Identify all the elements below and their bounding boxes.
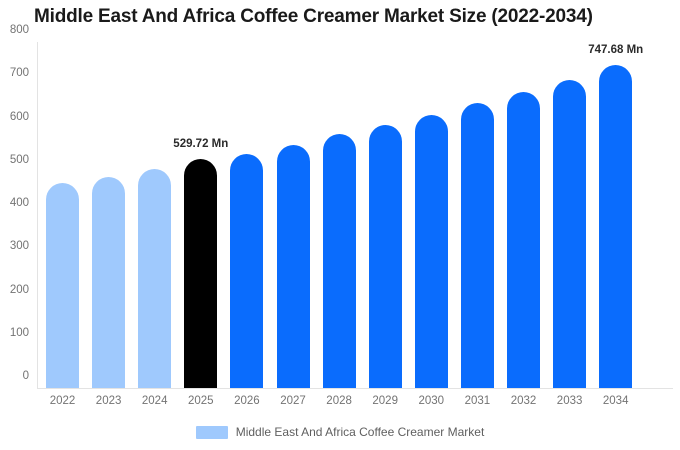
y-axis-tick-label: 400 (10, 197, 29, 209)
bar-2030[interactable] (415, 115, 448, 388)
bar-slot (230, 42, 263, 388)
bar-2023[interactable] (92, 177, 125, 388)
bar-value-label-2025: 529.72 Mn (173, 138, 228, 150)
bar-chart: Middle East And Africa Coffee Creamer Ma… (0, 0, 680, 450)
bar-slot (553, 42, 586, 388)
bar-2033[interactable] (553, 80, 586, 388)
chart-title: Middle East And Africa Coffee Creamer Ma… (34, 6, 654, 28)
bar-2022[interactable] (46, 183, 79, 388)
y-axis-tick-label: 200 (10, 284, 29, 296)
bar-2026[interactable] (230, 154, 263, 388)
bar-slot (415, 42, 448, 388)
y-axis-tick-label: 0 (23, 370, 29, 382)
bar-2024[interactable] (138, 169, 171, 388)
bar-2027[interactable] (277, 145, 310, 388)
y-axis-tick-label: 500 (10, 154, 29, 166)
bar-2031[interactable] (461, 103, 494, 388)
bar-slot (184, 42, 217, 388)
bar-slot (92, 42, 125, 388)
bar-slot (277, 42, 310, 388)
y-axis-tick-label: 100 (10, 327, 29, 339)
bar-slot (369, 42, 402, 388)
y-axis-tick-label: 600 (10, 111, 29, 123)
x-axis-line (37, 388, 673, 389)
bar-slot (599, 42, 632, 388)
legend-swatch-icon (196, 426, 228, 439)
bar-slot (46, 42, 79, 388)
y-axis-tick-label: 300 (10, 240, 29, 252)
bar-slot (323, 42, 356, 388)
bar-2034[interactable] (599, 65, 632, 388)
x-axis-tick-label: 2034 (586, 395, 646, 407)
chart-legend: Middle East And Africa Coffee Creamer Ma… (0, 425, 680, 439)
bar-2032[interactable] (507, 92, 540, 388)
y-axis-tick-label: 800 (10, 24, 29, 36)
bar-slot (461, 42, 494, 388)
bar-2028[interactable] (323, 134, 356, 388)
y-axis-tick-label: 700 (10, 67, 29, 79)
plot-area: 0100200300400500600700800529.72 Mn747.68… (37, 42, 673, 388)
bar-2025[interactable] (184, 159, 217, 388)
bar-slot (138, 42, 171, 388)
legend-label: Middle East And Africa Coffee Creamer Ma… (236, 425, 485, 439)
bar-2029[interactable] (369, 125, 402, 388)
bar-slot (507, 42, 540, 388)
bar-value-label-2034: 747.68 Mn (588, 44, 643, 56)
